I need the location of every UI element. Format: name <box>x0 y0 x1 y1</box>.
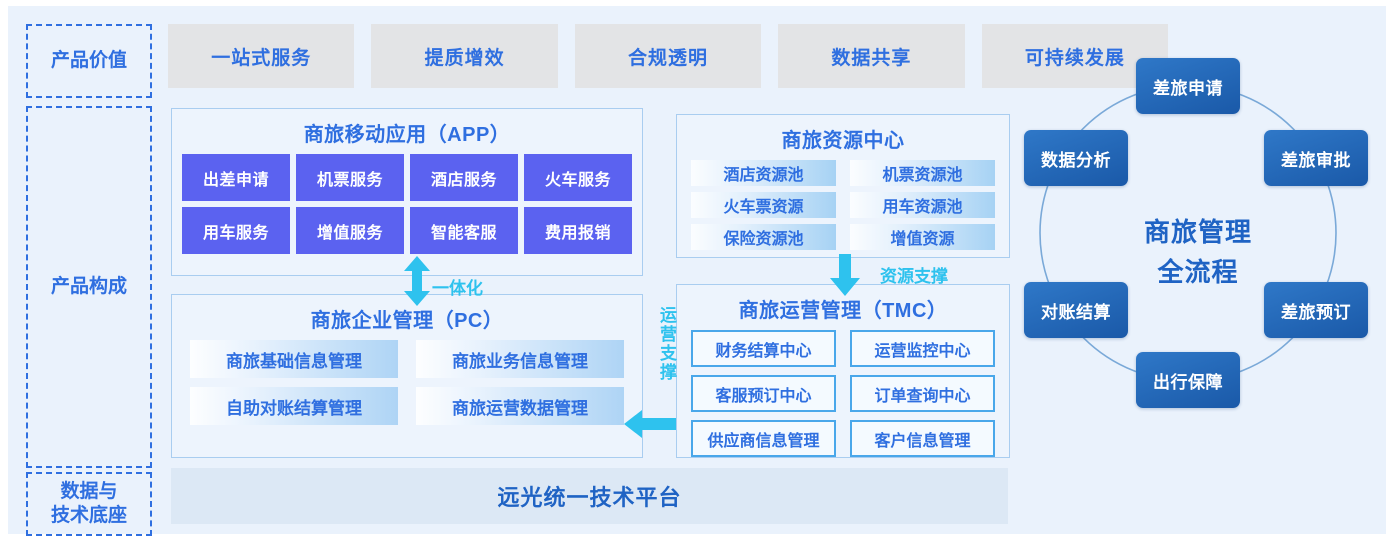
app-panel-title: 商旅移动应用（APP） <box>172 109 642 154</box>
rail-item-composition: 产品构成 <box>26 106 152 468</box>
value-tag: 一站式服务 <box>168 24 354 88</box>
integration-label: 一体化 <box>432 274 483 299</box>
app-chip[interactable]: 火车服务 <box>524 154 632 201</box>
resource-panel-title: 商旅资源中心 <box>677 115 1009 160</box>
tmc-panel: 商旅运营管理（TMC） 财务结算中心 运营监控中心 客服预订中心 订单查询中心 … <box>676 284 1010 458</box>
resource-chip[interactable]: 增值资源 <box>850 224 995 250</box>
rail-item-value: 产品价值 <box>26 24 152 98</box>
app-chip[interactable]: 酒店服务 <box>410 154 518 201</box>
value-tag: 数据共享 <box>778 24 964 88</box>
app-chip[interactable]: 出差申请 <box>182 154 290 201</box>
resource-panel: 商旅资源中心 酒店资源池 机票资源池 火车票资源 用车资源池 保险资源池 增值资… <box>676 114 1010 258</box>
app-chip-grid: 出差申请 机票服务 酒店服务 火车服务 用车服务 增值服务 智能客服 费用报销 <box>172 154 642 264</box>
resource-chip[interactable]: 机票资源池 <box>850 160 995 186</box>
resource-support-label: 资源支撑 <box>880 262 948 287</box>
resource-chip[interactable]: 保险资源池 <box>691 224 836 250</box>
tmc-chip[interactable]: 运营监控中心 <box>850 330 995 367</box>
category-rail: 产品价值 产品构成 数据与技术底座 <box>20 14 154 526</box>
pc-chip-grid: 商旅基础信息管理 商旅业务信息管理 自助对账结算管理 商旅运营数据管理 <box>172 340 642 437</box>
flow-center-line2: 全流程 <box>1110 252 1286 292</box>
pc-chip[interactable]: 商旅运营数据管理 <box>416 387 624 425</box>
integration-double-arrow-icon <box>400 256 434 306</box>
platform-bar: 远光统一技术平台 <box>171 468 1008 524</box>
resource-chip[interactable]: 用车资源池 <box>850 192 995 218</box>
platform-label: 远光统一技术平台 <box>497 480 681 512</box>
rail-label-value: 产品价值 <box>51 49 127 73</box>
diagram-canvas: 产品价值 产品构成 数据与技术底座 一站式服务 提质增效 合规透明 数据共享 可… <box>8 6 1386 534</box>
tmc-chip[interactable]: 客服预订中心 <box>691 375 836 412</box>
resource-down-arrow-icon <box>828 254 862 296</box>
flow-node-approve[interactable]: 差旅审批 <box>1264 130 1368 186</box>
pc-panel: 商旅企业管理（PC） 商旅基础信息管理 商旅业务信息管理 自助对账结算管理 商旅… <box>171 294 643 458</box>
pc-left-arrow-icon <box>624 408 676 440</box>
flow-node-settlement[interactable]: 对账结算 <box>1024 282 1128 338</box>
resource-chip[interactable]: 火车票资源 <box>691 192 836 218</box>
app-chip[interactable]: 机票服务 <box>296 154 404 201</box>
rail-label-composition: 产品构成 <box>51 275 127 299</box>
pc-chip[interactable]: 商旅基础信息管理 <box>190 340 398 378</box>
app-chip[interactable]: 费用报销 <box>524 207 632 254</box>
pc-chip[interactable]: 商旅业务信息管理 <box>416 340 624 378</box>
resource-chip-grid: 酒店资源池 机票资源池 火车票资源 用车资源池 保险资源池 增值资源 <box>677 160 1009 259</box>
flow-node-booking[interactable]: 差旅预订 <box>1264 282 1368 338</box>
rail-item-foundation: 数据与技术底座 <box>26 472 152 536</box>
value-tag: 提质增效 <box>371 24 557 88</box>
app-chip[interactable]: 增值服务 <box>296 207 404 254</box>
rail-label-foundation: 数据与技术底座 <box>51 480 127 528</box>
flow-node-travel-guarantee[interactable]: 出行保障 <box>1136 352 1240 408</box>
tmc-chip[interactable]: 客户信息管理 <box>850 420 995 457</box>
tmc-chip-grid: 财务结算中心 运营监控中心 客服预订中心 订单查询中心 供应商信息管理 客户信息… <box>677 330 1009 467</box>
flow-node-analytics[interactable]: 数据分析 <box>1024 130 1128 186</box>
flow-node-apply[interactable]: 差旅申请 <box>1136 58 1240 114</box>
flow-center-line1: 商旅管理 <box>1110 212 1286 252</box>
app-chip[interactable]: 智能客服 <box>410 207 518 254</box>
travel-flow-diagram: 商旅管理 全流程 差旅申请 差旅审批 差旅预订 出行保障 对账结算 数据分析 <box>1018 30 1378 470</box>
app-panel: 商旅移动应用（APP） 出差申请 机票服务 酒店服务 火车服务 用车服务 增值服… <box>171 108 643 276</box>
tmc-chip[interactable]: 财务结算中心 <box>691 330 836 367</box>
tmc-chip[interactable]: 供应商信息管理 <box>691 420 836 457</box>
operation-support-label: 运营支撑 <box>653 306 675 382</box>
flow-center-label: 商旅管理 全流程 <box>1110 212 1286 293</box>
resource-chip[interactable]: 酒店资源池 <box>691 160 836 186</box>
app-chip[interactable]: 用车服务 <box>182 207 290 254</box>
pc-chip[interactable]: 自助对账结算管理 <box>190 387 398 425</box>
value-tag: 合规透明 <box>575 24 761 88</box>
tmc-chip[interactable]: 订单查询中心 <box>850 375 995 412</box>
